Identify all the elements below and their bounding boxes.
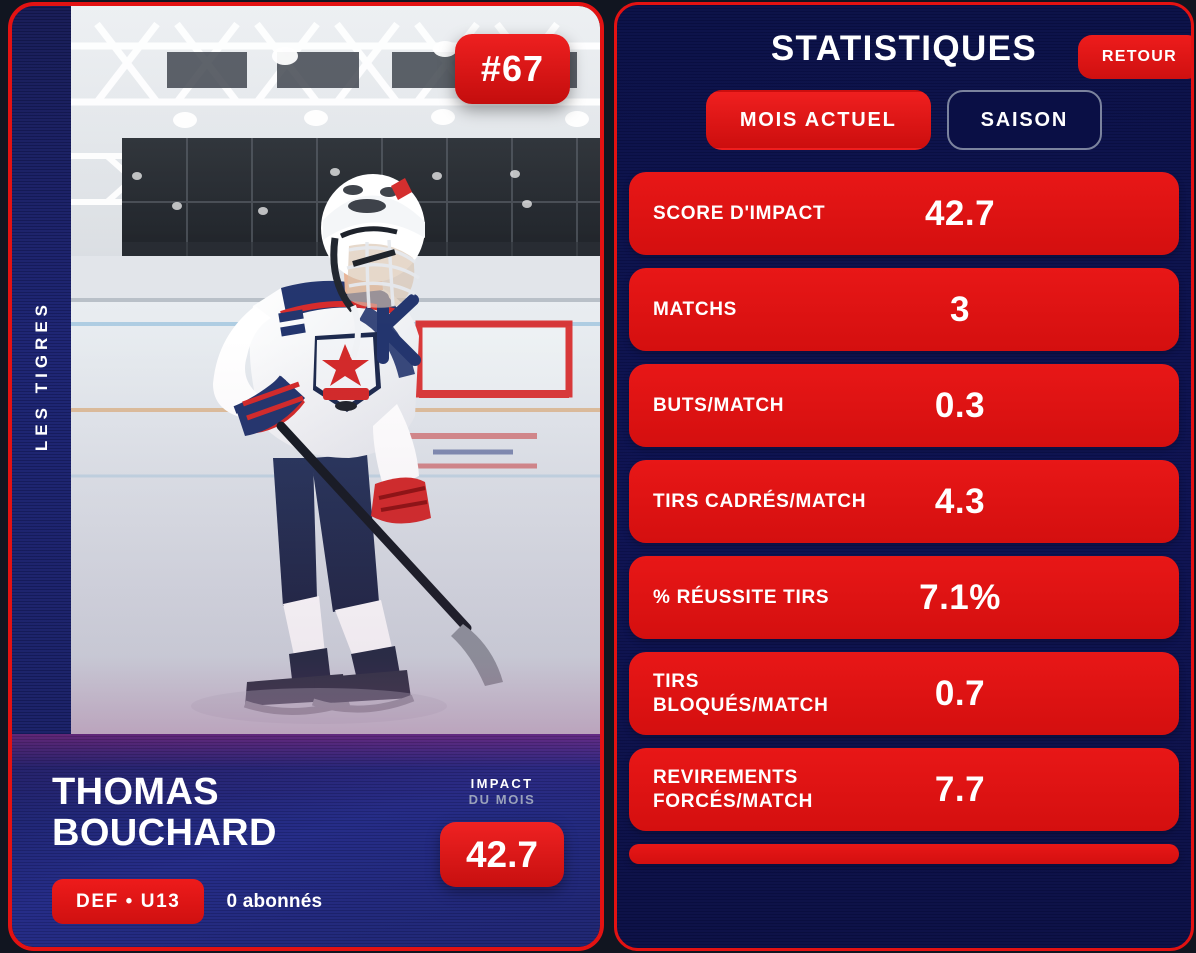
back-button[interactable]: RETOUR xyxy=(1078,35,1194,79)
tab-season[interactable]: SAISON xyxy=(947,90,1102,150)
player-identity: THOMAS BOUCHARD DEF • U13 0 abonnés xyxy=(52,772,322,921)
team-name-label: LES TIGRES xyxy=(32,300,52,451)
table-row-partial[interactable] xyxy=(629,844,1179,864)
stat-label: BUTS/MATCH xyxy=(653,394,885,417)
table-row[interactable]: REVIREMENTS FORCÉS/MATCH 7.7 xyxy=(629,748,1179,831)
stat-value: 3 xyxy=(885,292,1035,327)
stat-value: 0.3 xyxy=(885,388,1035,423)
arena-photo-illustration xyxy=(71,6,600,746)
player-info-grid: THOMAS BOUCHARD DEF • U13 0 abonnés IMPA… xyxy=(12,734,600,947)
impact-label: IMPACT xyxy=(471,776,534,792)
statistics-panel: STATISTIQUES RETOUR MOIS ACTUEL SAISON S… xyxy=(614,2,1194,951)
period-toggle-group: MOIS ACTUEL SAISON xyxy=(617,90,1191,150)
impact-score-badge: 42.7 xyxy=(440,822,564,887)
table-row[interactable]: TIRS CADRÉS/MATCH 4.3 xyxy=(629,460,1179,543)
followers-count: 0 abonnés xyxy=(226,891,322,913)
stat-value: 0.7 xyxy=(885,676,1035,711)
player-last-name: BOUCHARD xyxy=(52,813,322,854)
table-row[interactable]: TIRS BLOQUÉS/MATCH 0.7 xyxy=(629,652,1179,735)
impact-sublabel: DU MOIS xyxy=(469,792,536,809)
jersey-number-badge: #67 xyxy=(455,34,570,104)
stat-label: TIRS CADRÉS/MATCH xyxy=(653,490,885,513)
table-row[interactable]: BUTS/MATCH 0.3 xyxy=(629,364,1179,447)
player-meta-row: DEF • U13 0 abonnés xyxy=(52,879,322,924)
stat-label: REVIREMENTS FORCÉS/MATCH xyxy=(653,766,885,812)
position-badge: DEF • U13 xyxy=(52,879,204,924)
stat-value: 7.7 xyxy=(885,772,1035,807)
stat-label: TIRS BLOQUÉS/MATCH xyxy=(653,670,885,716)
app-root: LES TIGRES #67 STATS THOMAS BOUCHARD DEF… xyxy=(0,0,1196,953)
stat-value: 4.3 xyxy=(885,484,1035,519)
statistics-list: SCORE D'IMPACT 42.7 MATCHS 3 BUTS/MATCH … xyxy=(617,172,1191,864)
player-card-inner: LES TIGRES #67 STATS THOMAS BOUCHARD DEF… xyxy=(12,6,600,947)
stat-value: 7.1% xyxy=(885,580,1035,615)
page-title: THOMAS BOUCHARD xyxy=(52,772,322,853)
table-row[interactable]: MATCHS 3 xyxy=(629,268,1179,351)
stat-value: 42.7 xyxy=(885,196,1035,231)
table-row[interactable]: SCORE D'IMPACT 42.7 xyxy=(629,172,1179,255)
player-first-name: THOMAS xyxy=(52,772,322,813)
stat-label: % RÉUSSITE TIRS xyxy=(653,586,885,609)
table-row[interactable]: % RÉUSSITE TIRS 7.1% xyxy=(629,556,1179,639)
player-card[interactable]: LES TIGRES #67 STATS THOMAS BOUCHARD DEF… xyxy=(8,2,604,951)
impact-of-month-block: IMPACT DU MOIS 42.7 xyxy=(440,772,564,921)
player-photo xyxy=(71,6,600,746)
team-rail: LES TIGRES xyxy=(12,6,71,746)
stat-label: MATCHS xyxy=(653,298,885,321)
stat-label: SCORE D'IMPACT xyxy=(653,202,885,225)
player-info-panel: THOMAS BOUCHARD DEF • U13 0 abonnés IMPA… xyxy=(12,734,600,947)
tab-current-month[interactable]: MOIS ACTUEL xyxy=(706,90,931,150)
